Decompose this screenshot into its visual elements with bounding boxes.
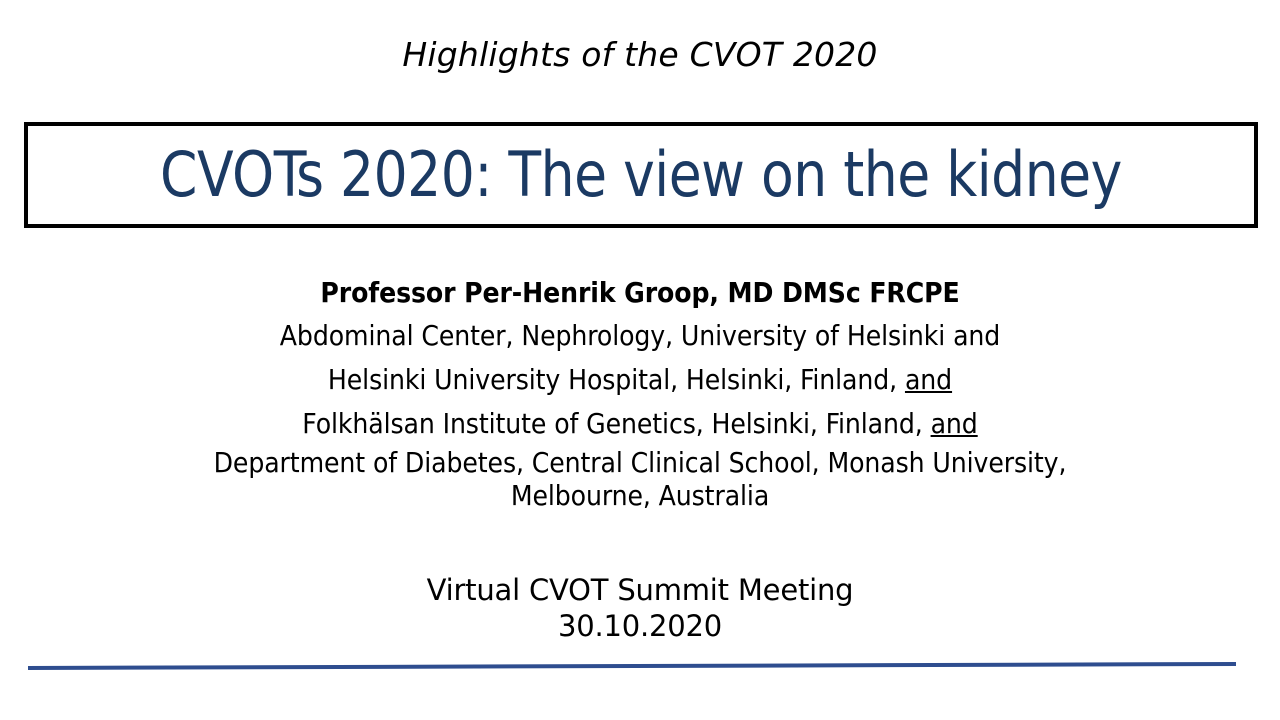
meeting-block: Virtual CVOT Summit Meeting 30.10.2020 bbox=[0, 572, 1280, 644]
title-box: CVOTs 2020: The view on the kidney bbox=[24, 122, 1258, 228]
bottom-divider-rule bbox=[0, 640, 1280, 700]
affiliation-text: Folkhälsan Institute of Genetics, Helsin… bbox=[302, 407, 930, 440]
affiliation-line-2: Helsinki University Hospital, Helsinki, … bbox=[0, 358, 1280, 402]
slide-canvas: Highlights of the CVOT 2020 CVOTs 2020: … bbox=[0, 0, 1280, 720]
affiliation-underlined-and: and bbox=[905, 363, 952, 396]
affiliation-line-4: Department of Diabetes, Central Clinical… bbox=[0, 446, 1280, 512]
author-name: Professor Per-Henrik Groop, MD DMSc FRCP… bbox=[0, 272, 1280, 314]
affiliation-line-1: Abdominal Center, Nephrology, University… bbox=[0, 314, 1280, 358]
affiliation-underlined-and: and bbox=[931, 407, 978, 440]
meeting-date: 30.10.2020 bbox=[0, 608, 1280, 644]
author-block: Professor Per-Henrik Groop, MD DMSc FRCP… bbox=[0, 272, 1280, 512]
divider-line bbox=[28, 664, 1236, 668]
affiliation-text: Helsinki University Hospital, Helsinki, … bbox=[328, 363, 905, 396]
affiliation-text: Abdominal Center, Nephrology, University… bbox=[280, 319, 1000, 352]
meeting-name: Virtual CVOT Summit Meeting bbox=[0, 572, 1280, 608]
page-title: CVOTs 2020: The view on the kidney bbox=[160, 140, 1122, 210]
affiliation-text: Department of Diabetes, Central Clinical… bbox=[214, 446, 1067, 512]
slide-running-header: Highlights of the CVOT 2020 bbox=[0, 36, 1280, 74]
affiliation-line-3: Folkhälsan Institute of Genetics, Helsin… bbox=[0, 402, 1280, 446]
